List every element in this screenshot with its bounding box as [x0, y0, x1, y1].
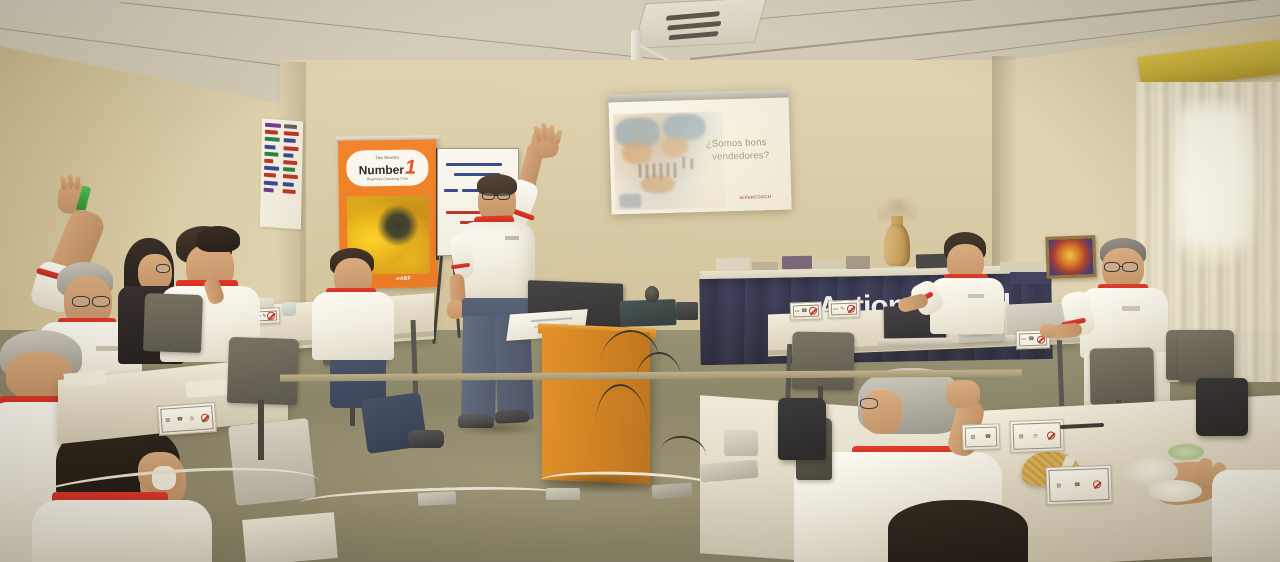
attendee-right-2-glasses-bridge [1119, 266, 1123, 267]
attendee-right-2-hand [1040, 324, 1056, 338]
notes-icon: ▤ [165, 418, 170, 423]
table-tent-card[interactable]: ▭✎ [828, 299, 861, 318]
slide-surface: ¿Somos bons vendedores? actionCOACH [609, 98, 792, 215]
chair-fg-far-right [1178, 330, 1234, 382]
presenter-shadow [452, 420, 542, 436]
table-clutter-item [812, 260, 844, 269]
av-equipment-box [676, 302, 698, 320]
attendee-right-2-glasses [1104, 262, 1120, 272]
banner-headline-main: Number1 [359, 160, 417, 177]
attendee-right-fg-torso [1212, 470, 1280, 562]
shirt-logo [96, 346, 118, 351]
clock-icon: ◷ [189, 416, 194, 421]
av-cable [636, 352, 682, 412]
laptop-base[interactable] [878, 337, 952, 345]
chair-left-3 [227, 337, 299, 405]
no-phone-icon [1093, 480, 1101, 488]
abf-logo: ▰ABF [396, 276, 411, 282]
projection-screen: ¿Somos bons vendedores? actionCOACH [608, 90, 791, 215]
presenter-leg [461, 316, 497, 423]
wall-flipchart-sheet [260, 119, 303, 230]
power-adapter [546, 488, 580, 500]
plate [1148, 480, 1202, 502]
chair-left-1 [143, 293, 203, 353]
table-tent-card[interactable]: ▤☎ [962, 423, 1001, 450]
phone-icon: ☎ [1074, 482, 1080, 487]
slide-title: ¿Somos bons vendedores? [706, 136, 789, 164]
attendee-left-mid-torso [312, 292, 394, 360]
banner-headline-panel: The World's Number1 Business Coaching Fi… [346, 149, 428, 186]
av-equipment-knob [645, 286, 659, 302]
attendee-fg-grey-head [862, 390, 902, 434]
no-phone-icon [1047, 431, 1055, 439]
chair-right-2 [1090, 347, 1155, 404]
table-tent-card[interactable]: ▤ ☎ ◷ [157, 402, 217, 436]
papers-foreground [242, 512, 338, 562]
cup [282, 302, 296, 316]
table-tent-card[interactable]: ▤ ☎ [1045, 465, 1112, 505]
no-phone-icon [200, 414, 209, 423]
table-clutter-item [782, 256, 812, 270]
attendee-right-2-glasses [1122, 262, 1138, 272]
attendee-woman-glasses [156, 264, 170, 273]
power-adapter [652, 483, 693, 500]
presenter-glasses [497, 192, 510, 200]
attendee-glasses [92, 296, 110, 307]
table-tent-card[interactable]: ▭☎ [790, 301, 823, 320]
presenter-glasses-bridge [494, 195, 498, 196]
chair-post [258, 400, 264, 460]
notes-icon: ▤ [1056, 483, 1061, 488]
food-garnish [1168, 444, 1204, 460]
attendee-finger [67, 174, 73, 189]
actioncoach-logo: actionCOACH [739, 194, 771, 200]
av-equipment-box [620, 299, 677, 327]
photo-scene: ¿Somos bons vendedores? actionCOACH The … [0, 0, 1280, 562]
decorative-vase [884, 224, 910, 266]
framed-artwork [1045, 235, 1096, 279]
phone-icon: ☎ [177, 417, 184, 422]
attendee-fg-grey-hand [946, 380, 980, 408]
laptop-bag [1196, 378, 1248, 436]
attendee-shoe [408, 430, 444, 448]
attendee-fg-grey-glasses [860, 398, 878, 409]
table-clutter-item [1010, 272, 1050, 284]
table-clutter-item [1000, 262, 1044, 272]
ceiling-vent-icon [633, 0, 767, 49]
table-clutter-item [846, 256, 870, 269]
clock-icon: ◷ [1033, 433, 1038, 438]
table-tent-card[interactable]: ▤ ◷ [1009, 419, 1064, 453]
presenter-finger [549, 125, 555, 142]
attendee-glasses [72, 296, 90, 307]
power-adapter [418, 491, 457, 506]
attendee-fg-right-dark-hair [888, 500, 1028, 562]
attendee-right-2-shirt-logo [1122, 306, 1140, 311]
table-clutter-item [752, 262, 778, 270]
laptop-bag [778, 398, 826, 460]
power-strip [724, 430, 758, 456]
window-daylight-core [1180, 110, 1246, 245]
table-clutter-item [716, 257, 750, 270]
presenter-shirt-logo [505, 236, 519, 240]
banner-subline: Business Coaching Firm [367, 177, 408, 182]
notes-icon: ▤ [1019, 434, 1024, 439]
chair-right-1 [791, 331, 854, 390]
attendee-right-1-shirt-logo [968, 294, 984, 298]
attendee-back-hair [196, 226, 240, 252]
